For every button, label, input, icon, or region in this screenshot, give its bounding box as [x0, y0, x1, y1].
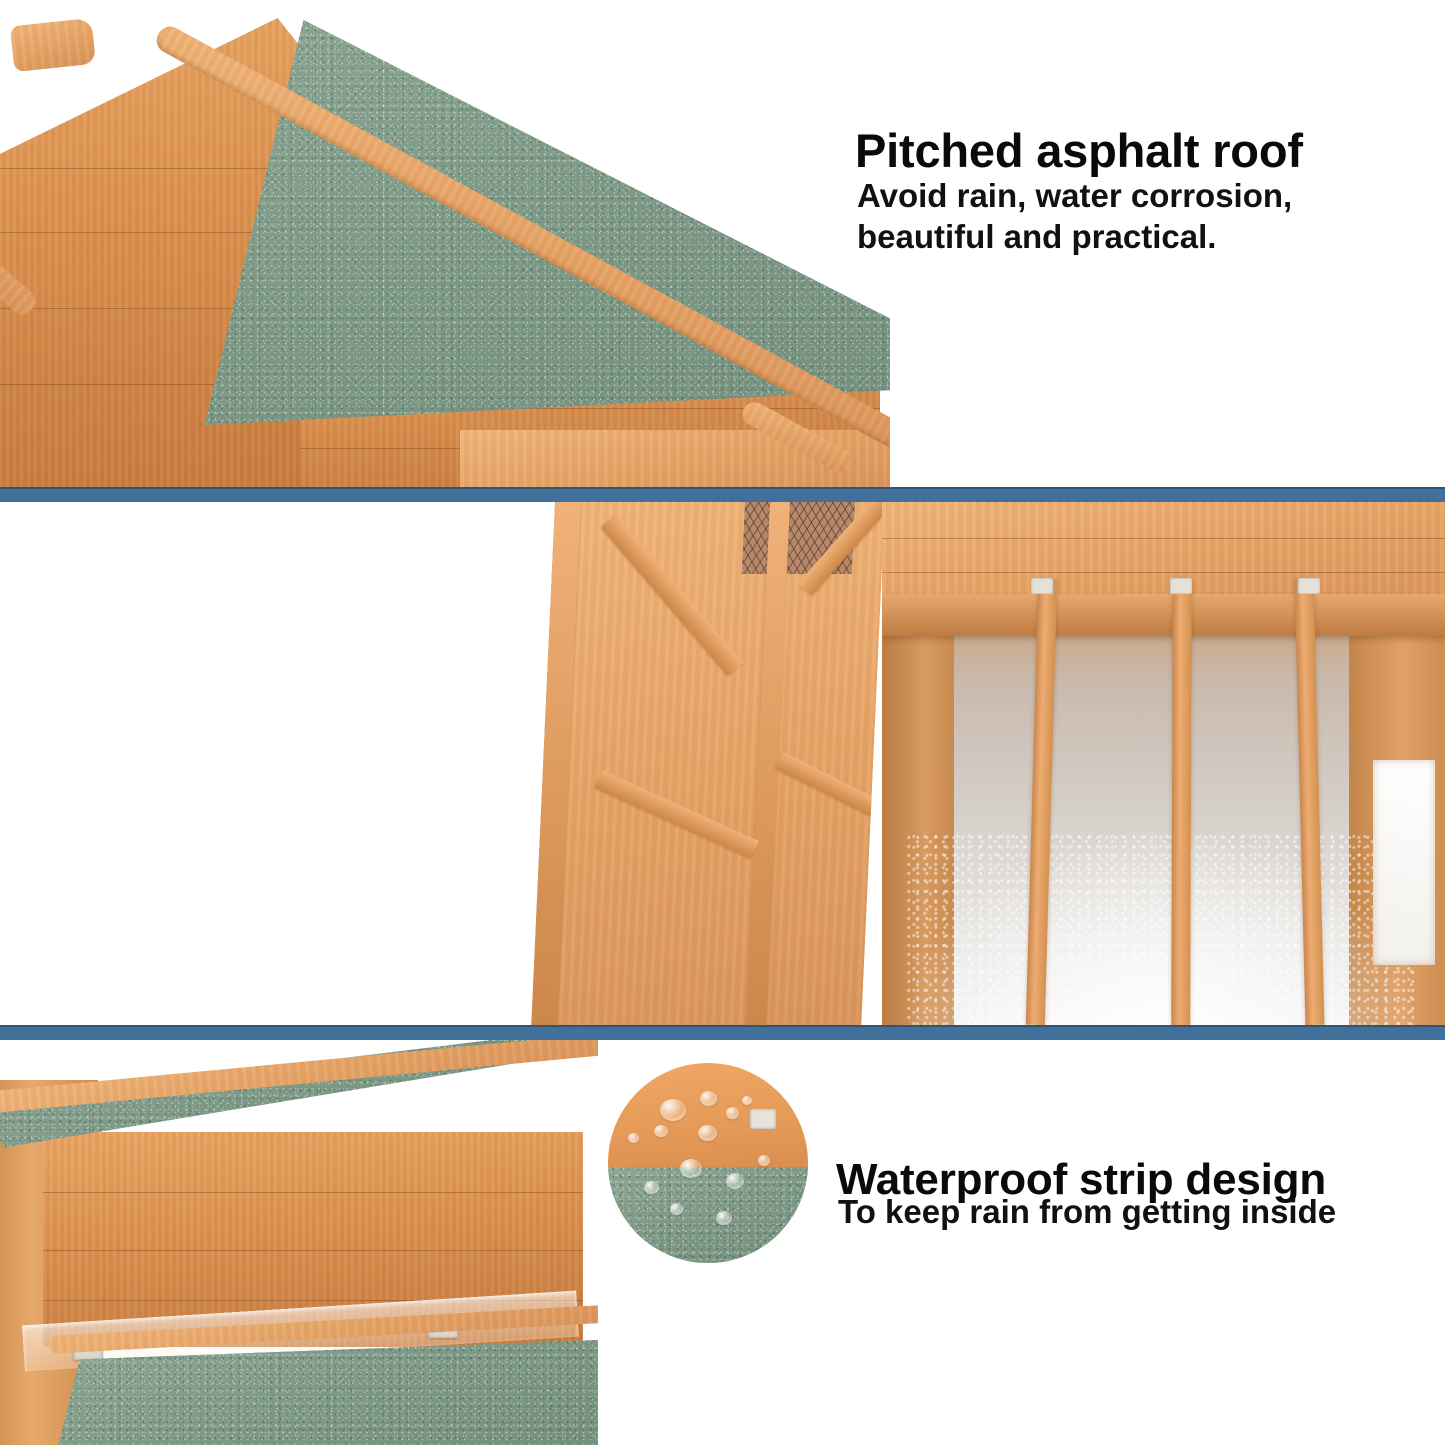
- interior-floor: [907, 832, 1417, 1025]
- panel-1-subtext-line-2: beautiful and practical.: [857, 218, 1216, 255]
- roosting-pillar-2: [1171, 580, 1192, 1025]
- panel-1-subtext: Avoid rain, water corrosion, beautiful a…: [857, 176, 1397, 258]
- door-boards: [531, 502, 885, 1025]
- pillar-3-bracket: [1298, 578, 1320, 594]
- interior-right-window: [1373, 760, 1435, 965]
- infographic-page: Pitched asphalt roof Avoid rain, water c…: [0, 0, 1445, 1445]
- water-droplet: [628, 1133, 639, 1143]
- panel-1-heading: Pitched asphalt roof: [855, 123, 1303, 178]
- inset-metal-clip: [750, 1109, 776, 1129]
- water-droplet: [670, 1203, 683, 1215]
- water-droplet: [758, 1155, 770, 1166]
- water-droplet: [742, 1096, 752, 1105]
- upper-roof-trim: [0, 1040, 598, 1114]
- inset-asphalt-roof: [608, 1167, 808, 1263]
- roof-ridge-cap: [10, 18, 96, 72]
- water-droplet: [698, 1125, 717, 1141]
- pillar-2-bracket: [1170, 578, 1192, 594]
- water-droplet: [716, 1211, 732, 1225]
- water-droplet: [644, 1181, 659, 1194]
- pitched-roof-photo: [0, 0, 890, 487]
- water-droplet: [726, 1107, 739, 1119]
- water-droplet: [654, 1125, 668, 1137]
- water-droplet: [680, 1159, 702, 1178]
- pillar-1-bracket: [1031, 578, 1053, 594]
- panel-3-subtext: To keep rain from getting inside: [838, 1192, 1438, 1233]
- waterproof-strip-photo: [0, 1040, 598, 1445]
- interior-support-beam: [882, 594, 1445, 636]
- barn-door-photo: [531, 502, 885, 1025]
- feature-panel-three-pillars: Three pillars Close to the rest habits o…: [0, 502, 1445, 1025]
- feature-panel-pitched-roof: Pitched asphalt roof Avoid rain, water c…: [0, 0, 1445, 487]
- water-droplet: [700, 1091, 717, 1106]
- waterproof-detail-inset: [608, 1063, 808, 1263]
- water-droplet: [660, 1099, 686, 1121]
- coop-interior-photo: [882, 502, 1445, 1025]
- water-droplet: [726, 1173, 744, 1189]
- inset-wood-strip: [608, 1063, 808, 1167]
- panel-1-subtext-line-1: Avoid rain, water corrosion,: [857, 177, 1292, 214]
- interior-ceiling-boards: [882, 502, 1445, 607]
